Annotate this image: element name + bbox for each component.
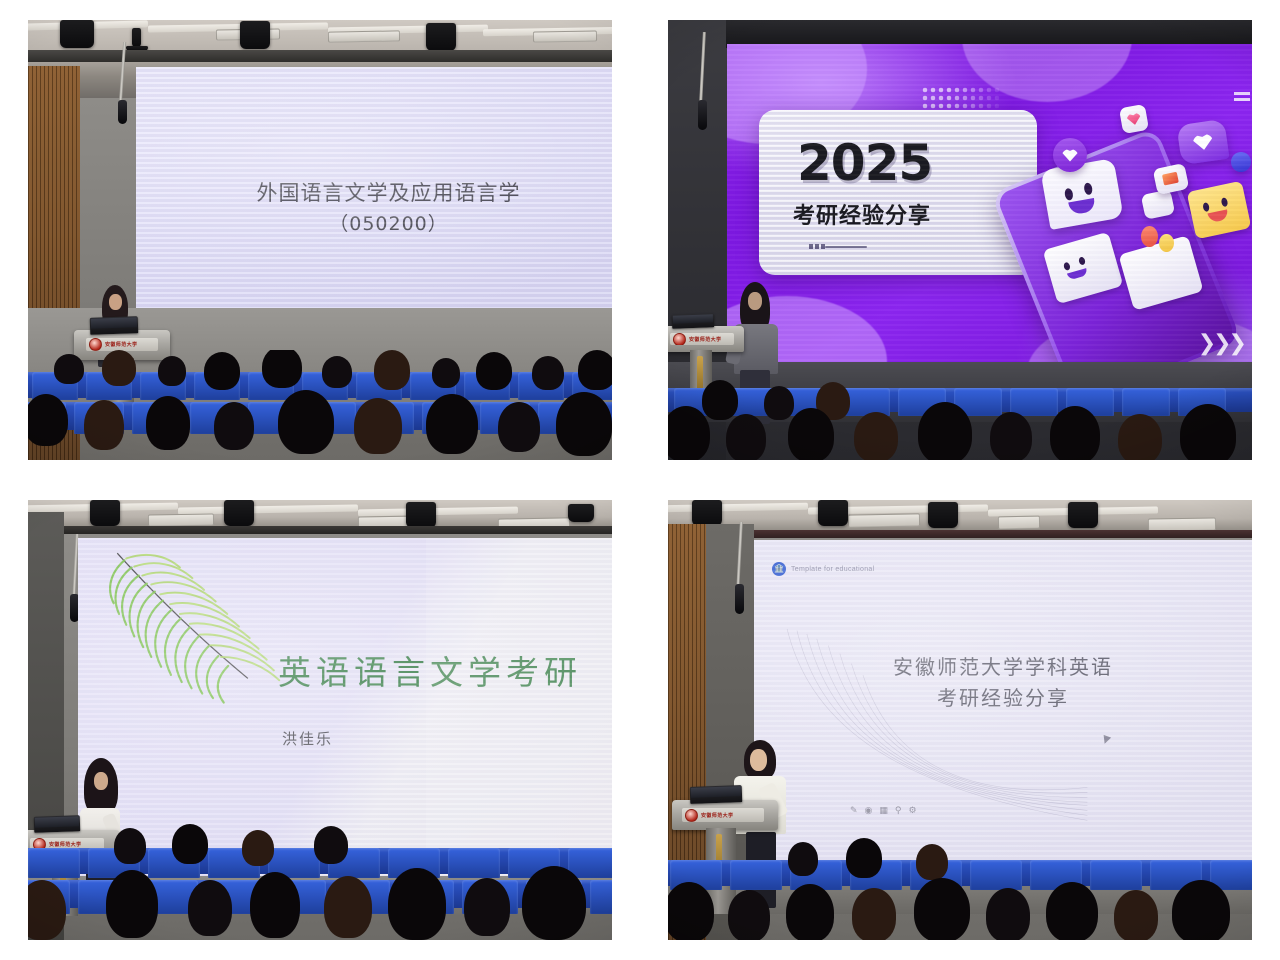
dot-grid-pattern <box>921 86 999 112</box>
chat-bubble-icon <box>1040 158 1123 230</box>
ceiling-speaker-icon <box>818 500 848 526</box>
ceiling-speaker-icon <box>1068 502 1098 528</box>
lecture-hall-scene: 英语语言文学考研 洪佳乐 安徽师范大学 <box>28 500 612 940</box>
photo-panel-bottom-left[interactable]: 英语语言文学考研 洪佳乐 安徽师范大学 <box>28 500 612 940</box>
zoom-in-icon[interactable]: ⚲ <box>895 806 902 815</box>
slide-title-block: 安徽师范大学学科英语 考研经验分享 <box>754 652 1252 714</box>
photo-collage: 外国语言文学及应用语言学 （050200） 安徽师范大学 <box>0 0 1280 960</box>
ceiling-speaker-icon <box>406 502 436 528</box>
audience-head <box>278 390 334 454</box>
slide-title-line2: 考研经验分享 <box>754 683 1252 714</box>
audience-head <box>324 876 372 938</box>
podium-emblem-text: 安徽师范大学 <box>701 812 733 819</box>
palm-leaf-decoration <box>96 546 296 716</box>
audience-head <box>498 402 540 452</box>
laser-pointer-icon[interactable]: ◉ <box>865 806 873 815</box>
slide-title-line1: 安徽师范大学学科英语 <box>754 652 1252 683</box>
led-screen: 2025 考研经验分享 <box>727 44 1252 364</box>
app-tile <box>1153 163 1190 195</box>
ceiling-speaker-icon <box>90 500 120 526</box>
audience-head <box>914 878 970 940</box>
audience-head <box>578 350 612 390</box>
audience-head <box>374 350 410 390</box>
slide-title-line1: 外国语言文学及应用语言学 <box>136 177 612 207</box>
audience-head <box>854 412 898 460</box>
laptop <box>690 785 743 804</box>
audience-head <box>188 880 232 936</box>
heart-circle-icon <box>1053 138 1087 172</box>
audience-head <box>668 406 710 460</box>
laptop <box>90 316 139 335</box>
ceiling-speaker-icon <box>426 23 456 51</box>
audience-head <box>464 878 510 936</box>
slide-title-block: 外国语言文学及应用语言学 （050200） <box>136 177 612 236</box>
bank-icon: 🏦 <box>772 562 786 576</box>
dot-icon <box>1231 152 1251 172</box>
audience-head <box>84 400 124 450</box>
audience-head <box>556 392 612 456</box>
lecture-hall-scene: 🏦 Template for educational <box>668 500 1252 940</box>
slide-subtitle: 考研经验分享 <box>793 198 931 230</box>
slide-author: 洪佳乐 <box>282 728 333 749</box>
audience-head <box>728 890 770 940</box>
audience-head <box>986 888 1030 940</box>
audience-head <box>990 412 1032 460</box>
audience-head <box>786 884 834 940</box>
title-card: 2025 考研经验分享 <box>759 110 1037 275</box>
audience <box>668 838 1252 940</box>
projection-screen: 外国语言文学及应用语言学 （050200） <box>136 67 612 309</box>
university-emblem-icon <box>685 809 698 822</box>
lecture-hall-scene: 2025 考研经验分享 <box>668 20 1252 460</box>
audience-head <box>918 402 972 460</box>
podium-emblem-text: 安徽师范大学 <box>689 336 721 343</box>
pen-icon[interactable]: ✎ <box>850 806 858 815</box>
audience <box>28 350 612 460</box>
ceiling-speaker-icon <box>692 500 722 526</box>
more-options-icon[interactable]: ⚙ <box>909 806 917 815</box>
audience-head <box>214 402 254 450</box>
university-emblem-icon <box>673 333 686 345</box>
audience-head <box>158 356 186 386</box>
audience-head <box>1118 414 1162 460</box>
audience-head <box>204 352 240 390</box>
audience-head <box>522 866 586 940</box>
slide-title-line2: （050200） <box>136 209 612 236</box>
ceiling-speaker-icon <box>60 20 94 48</box>
presenter-toolbar[interactable]: ✎ ◉ ▦ ⚲ ⚙ <box>850 806 917 815</box>
ceiling-projector-icon <box>568 504 594 522</box>
audience-head <box>102 350 136 386</box>
slide-brand: 🏦 Template for educational <box>772 562 874 576</box>
audience-head <box>764 386 794 420</box>
slide-year: 2025 <box>797 134 932 192</box>
audience-head <box>314 826 348 864</box>
audience-head <box>476 352 512 390</box>
slide-content: 🏦 Template for educational <box>754 540 1252 870</box>
microphone-icon <box>735 584 744 614</box>
audience <box>668 372 1252 460</box>
ceiling-speaker-icon <box>224 500 254 526</box>
audience-head <box>916 844 948 880</box>
audience-head <box>1180 404 1236 460</box>
ceiling-speaker-icon <box>928 502 958 528</box>
photo-panel-bottom-right[interactable]: 🏦 Template for educational <box>668 500 1252 940</box>
heart-tile-icon <box>1119 104 1149 134</box>
ceiling-projector-icon <box>132 28 141 48</box>
heart-bubble-icon <box>1176 119 1229 165</box>
audience-head <box>702 380 738 420</box>
audience-head <box>250 872 300 938</box>
podium-nameplate: 安徽师范大学 <box>670 333 734 345</box>
audience-head <box>1114 890 1158 940</box>
laptop <box>672 313 714 328</box>
podium-emblem-text: 安徽师范大学 <box>105 341 137 348</box>
audience <box>28 818 612 940</box>
audience-head <box>846 838 882 878</box>
audience-head <box>388 868 446 940</box>
audience-head <box>788 408 834 460</box>
balloon-icon <box>1159 234 1174 252</box>
audience-head <box>106 870 158 938</box>
chevron-right-icon: ❯❯❯ <box>1198 330 1244 356</box>
microphone-icon <box>698 100 707 130</box>
audience-head <box>354 398 402 454</box>
audience-head <box>788 842 818 876</box>
audience-head <box>114 828 146 864</box>
podium-nameplate: 安徽师范大学 <box>682 808 764 822</box>
audience-head <box>322 356 352 388</box>
decorative-curve <box>764 608 1094 838</box>
balloon-icon <box>1141 226 1158 247</box>
audience-head <box>1172 880 1230 940</box>
audience-head <box>146 396 190 450</box>
audience-head <box>1050 406 1100 460</box>
slide-brand-text: Template for educational <box>791 566 874 573</box>
audience-head <box>432 358 460 388</box>
photo-panel-top-right[interactable]: 2025 考研经验分享 <box>668 20 1252 460</box>
audience-head <box>668 882 714 940</box>
audience-head <box>726 414 766 460</box>
ceiling-speaker-icon <box>240 21 270 49</box>
audience-head <box>28 394 68 446</box>
slide-grid-icon[interactable]: ▦ <box>879 806 888 815</box>
audience-head <box>426 394 478 454</box>
projection-screen: 🏦 Template for educational <box>754 540 1252 870</box>
slide-content: 2025 考研经验分享 <box>727 44 1252 364</box>
microphone-icon <box>118 100 127 124</box>
audience-head <box>54 354 84 384</box>
photo-panel-top-left[interactable]: 外国语言文学及应用语言学 （050200） 安徽师范大学 <box>28 20 612 460</box>
audience-head <box>852 888 896 940</box>
audience-head <box>262 350 302 388</box>
audience-head <box>242 830 274 866</box>
audience-head <box>1046 882 1098 940</box>
audience-head <box>172 824 208 864</box>
lecture-hall-scene: 外国语言文学及应用语言学 （050200） 安徽师范大学 <box>28 20 612 460</box>
mouse-cursor <box>1101 735 1111 745</box>
audience-head <box>532 356 564 390</box>
app-tile-smiley <box>1187 181 1252 240</box>
